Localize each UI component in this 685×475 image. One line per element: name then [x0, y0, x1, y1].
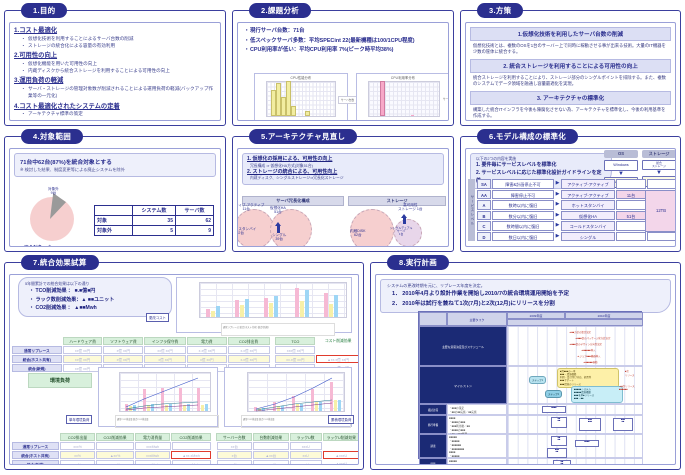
grade: SA — [477, 179, 491, 189]
arrow-right-icon: ▶ — [555, 232, 560, 242]
cell-highlight: ▲xx.xMwh — [171, 451, 210, 459]
col-co2: CO2排出費 — [228, 337, 270, 345]
cell: x億 xx円 — [103, 355, 143, 363]
grade: C — [477, 221, 491, 231]
purpose-item: 1.コスト最適化 仮想化技術を利用することによるサーバ台数の削減 ストレージの統… — [14, 27, 216, 49]
mode: シングル — [561, 232, 615, 242]
cell: x.x億 xx円 — [228, 355, 270, 363]
chart-legend: サーバ台数 — [338, 96, 357, 104]
storage-cell — [647, 179, 676, 189]
mode: アクティブ-アクティブ — [561, 179, 615, 189]
bar — [300, 301, 304, 317]
section-5-architecture-review: 5.アーキテクチャ見直し 1. 仮想化の採用による、可用性の向上 冗長構成 ⇒ … — [232, 136, 454, 252]
col-rack-u: ラックU数 — [290, 433, 322, 441]
cell-highlight: ▲xxxU — [323, 451, 359, 459]
section-2-title: 2.課題分析 — [249, 3, 311, 18]
section-6-model-standardization: 6.モデル構成の標準化 以下の2つの内容を実施 1. 要件毎にサービスレベルを標… — [460, 136, 681, 252]
cell: xxx% — [60, 442, 96, 450]
plot-area — [266, 81, 336, 117]
measure-block: 2. 統合ストレージを利用することによる可用性の向上 統合ストレージを利用するこ… — [470, 59, 671, 88]
mode: アクティブ-アクティブ — [561, 190, 615, 200]
cell: xx億 xx円 — [63, 364, 103, 372]
purpose-bullets: 仮想化機能を用いた可用性の向上 内蔵ディスクから統合ストレージを利用することによ… — [14, 61, 216, 74]
cell: ▲xx% — [96, 451, 133, 459]
tag-cumulative-env: 累積環境負荷 — [328, 415, 354, 424]
legend-item-3: 統合(新規) — [258, 327, 269, 329]
arrow-right-icon: ▶ — [555, 200, 560, 210]
cell-empty — [316, 346, 359, 354]
bar — [324, 293, 328, 317]
cell — [253, 442, 289, 450]
col-server-count: サーバー台数 — [216, 433, 252, 441]
gantt-milestone: ▲■次リリース■■■■■■ — [619, 384, 635, 391]
list-item: 仮想化技術を利用することによるサーバ台数の削減 — [23, 36, 216, 43]
label-environmental-load: 環境負荷 — [28, 373, 92, 388]
arrow-right-icon: ▶ — [555, 179, 560, 189]
chart-env-single-year: 通常CO2排出量 統合CO2排出量 — [98, 367, 218, 427]
col-system-count: システム数 — [132, 206, 175, 216]
pie-label-cold-standby: コールドスタンバイ 22台 — [237, 227, 256, 235]
table-header-row: CO2排出量 CO2削減効果 電力消費量 CO2削減効果 サーバー台数 台数削減… — [12, 433, 359, 441]
purpose-heading: 1.コスト最適化 — [14, 27, 216, 35]
cell: xxxMwh — [135, 451, 171, 459]
section-5-title: 5.アーキテクチャ見直し — [249, 129, 357, 144]
col-power-consumption: 電力消費量 — [135, 433, 171, 441]
arrow-right-icon: ▶ — [555, 211, 560, 221]
cell: xx億 xx円 — [63, 346, 103, 354]
section-4-scope: 4.対象範囲 71台中62台(87%)を統合対象とする ※ 検討した結果、制度変… — [4, 136, 226, 252]
row-label: 統合(ホスト共有) — [12, 451, 59, 459]
chart-title: CPU利用率分布 — [357, 74, 449, 80]
list-item: アーキテクチャ標準の策定 — [23, 111, 216, 118]
table-row: 通常リプレース xxx% xxxMwh xx台 xxxU — [12, 442, 359, 450]
gantt-milestone: ▲ジョブ■■■機器導入 — [577, 354, 600, 358]
gantt-subtasks-build: ■■■■■・■■■■■■ — [447, 458, 507, 465]
bar — [264, 298, 268, 317]
gantt-note-step-1: ■用■■■の一本■■■・環境構築利用・受け付け対応、処置等■■■サポート■■■環… — [557, 368, 619, 388]
count — [616, 179, 646, 189]
section-2-body: 現行サーバ台数：71台 低スペックサーバ多数：平均SPECint 22(最新機種… — [237, 22, 449, 121]
section-8-title: 8.実行計画 — [387, 255, 449, 270]
cell: xxxU — [290, 442, 322, 450]
pie-label-internal-disk: 内蔵DISK 62台 — [350, 229, 366, 237]
arrow-up-icon — [401, 214, 407, 218]
arrow-stem — [277, 226, 280, 233]
bar — [235, 300, 239, 317]
bar — [240, 305, 244, 317]
cell — [172, 442, 211, 450]
measure-text: 統合ストレージを利用することにより、ストレージ部分のシングルポイントを排除する。… — [470, 73, 671, 88]
arch-note-2: 内蔵ディスク、シングルストレージ⇒冗長化ストレージ — [247, 176, 439, 181]
gantt-grid-row-6 — [507, 458, 643, 465]
gantt-row-label-procurement: 調達 — [419, 434, 447, 458]
gantt-bar: ■■■■ — [542, 406, 566, 413]
pie-label-virtual-ha: 仮想化HA 51台 — [270, 206, 286, 214]
bar — [305, 290, 309, 317]
requirement: 障害&計画停止不可 — [492, 179, 554, 189]
table-header-row: システム数 サーバ数 — [95, 206, 214, 216]
section-6-body: 以下の2つの内容を実施 1. 要件毎にサービスレベルを標準化 2. サービスレベ… — [465, 148, 676, 247]
legend-item-2: 統合CO2排出量 — [259, 419, 274, 421]
legend-item-1: 通常CO2排出量 — [243, 419, 258, 421]
pie-group-server: アクティブ-アクティブ 11台 コールドスタンバイ 22台 仮想化HA 51台 … — [240, 205, 344, 247]
gantt-corner — [419, 312, 447, 326]
section-3-title: 3.方策 — [477, 3, 523, 18]
count: 11台 — [616, 190, 646, 200]
gantt-milestone: ▲■■■■■導入 — [581, 348, 595, 352]
mode: ホットスタンバイ — [561, 200, 615, 210]
grade: B — [477, 211, 491, 221]
arch-head-1: 1. 仮想化の採用による、可用性の向上 — [247, 156, 439, 164]
col-rack-u-reduction: ラックU削減効果 — [323, 433, 359, 441]
cell-server-count: 62 — [175, 216, 213, 226]
gantt-milestone: ▲■■■■■稼動 — [583, 360, 597, 364]
gantt-step-2-bubble: ステップ2 — [545, 390, 562, 398]
cell: x台 — [217, 460, 253, 465]
bar — [329, 304, 333, 317]
pie-before-storage — [350, 209, 394, 247]
pie-label-excluded: 対象外 9台 — [48, 187, 59, 195]
chart-legend: 通常CO2排出量 統合CO2排出量 — [115, 415, 219, 428]
bar — [295, 288, 299, 317]
trend-lines — [120, 373, 212, 413]
measure-text: 構築した統合ITインフラを今後も陳腐化させない為、アーキテクチャを標準化し、今後… — [470, 105, 671, 120]
col-blank — [95, 206, 133, 216]
purpose-heading: 2.可用性の向上 — [14, 52, 216, 60]
chart-title: CPU性能分布 — [255, 74, 347, 80]
arrow-stem — [403, 218, 406, 224]
col-header-os: OS — [604, 150, 638, 158]
plot-area — [119, 372, 211, 412]
scope-lead-main: 71台中62台(87%)を統合対象とする — [20, 157, 210, 166]
os-value: Windows — [604, 160, 638, 171]
gantt-milestone: ■次リリース — [625, 369, 634, 377]
divider — [212, 451, 216, 459]
std-lead-item-1: 1. 要件毎にサービスレベルを標準化 — [476, 162, 606, 170]
chart-legend: サーバ台数 — [441, 96, 449, 102]
pie-label-single: シングル 39台 — [272, 233, 286, 241]
count — [616, 232, 646, 242]
table-row: 統合(ホスト共有) xx億 xx円 x億 xx円 x億 xx円 x億 xx円 x… — [12, 355, 359, 363]
gantt-row-label-plan: 検討計画 — [419, 404, 447, 415]
gantt-year-2010: 2010年度 — [565, 312, 643, 319]
corner-blank — [12, 433, 59, 441]
list-item: 低スペックサーバ多数：平均SPECint 22(最新機種は100/1CPU程度) — [244, 37, 444, 47]
col-header-storage: ストレージ — [642, 150, 676, 158]
section-1-body: 1.コスト最適化 仮想化技術を利用することによるサーバ台数の削減 ストレージの統… — [9, 22, 221, 121]
pie-label-active-active: アクティブ-アクティブ 11台 — [237, 203, 264, 211]
col-infra-maint: インフラ保守費 — [144, 337, 186, 345]
table-row: 統合(ホスト共有) xx% ▲xx% xxxMwh ▲xx.xMwh x台 ▲x… — [12, 451, 359, 459]
count — [616, 221, 646, 231]
cell: x台 — [217, 451, 253, 459]
purpose-bullets: サーバ・ストレージの管理対象数が削減されることによる運用負荷の軽減(バックアップ… — [14, 86, 216, 99]
section-8-execution-plan: 8.実行計画 システムの更改時期を元に、リプレース年度を決定。 1． 2010年… — [370, 262, 681, 470]
plot-area — [368, 81, 440, 117]
grade: A — [477, 200, 491, 210]
table-header-row: ハードウェア費 ソフトウェア費 インフラ保守費 電力費 CO2排出費 TCO コ… — [12, 337, 359, 345]
pie-label-single-dual: シングルデュアル サーバ 1台 — [390, 227, 412, 237]
cell: xxU — [290, 460, 322, 465]
col-power: 電力費 — [187, 337, 227, 345]
col-co2-reduction: CO2削減効果 — [96, 433, 133, 441]
row-label: 対象外 — [95, 226, 133, 236]
divider — [271, 355, 275, 363]
bar — [211, 311, 215, 317]
gantt-bar: ■■■■■ — [547, 448, 567, 458]
cell: ▲xx台 — [253, 460, 289, 465]
grade: D — [477, 232, 491, 242]
measure-heading: 1.仮想化技術を利用したサーバ台数の削減 — [470, 27, 671, 41]
bar — [206, 309, 210, 317]
section-5-body: 1. 仮想化の採用による、可用性の向上 冗長構成 ⇒ 仮想化HA方式(対象51台… — [237, 148, 449, 247]
effect-lead-item-3: ・ CO2削減効果 ： ▲■■Mwh — [25, 304, 165, 313]
measure-heading: 3. アーキテクチャの標準化 — [470, 91, 671, 105]
requirement: 数日以内に復旧 — [492, 232, 554, 242]
arch-lead: 1. 仮想化の採用による、可用性の向上 冗長構成 ⇒ 仮想化HA方式(対象51台… — [242, 153, 444, 185]
cell-server-count: 9 — [175, 226, 213, 236]
cell: xx% — [60, 460, 96, 465]
plot-area — [247, 372, 345, 412]
purpose-item: 2.可用性の向上 仮想化機能を用いた可用性の向上 内蔵ディスクから統合ストレージ… — [14, 52, 216, 74]
mode: 仮想化HA — [561, 211, 615, 221]
bar — [216, 306, 220, 317]
divider — [212, 442, 216, 450]
arrow-up-icon — [275, 222, 281, 226]
cell: ▲xx% — [96, 460, 133, 465]
cell-system-count: 35 — [132, 216, 175, 226]
bar — [334, 295, 338, 317]
pie-label-high-availability: 高可用性 ストレージ 1台 — [398, 203, 423, 211]
bar — [380, 81, 385, 116]
bar — [245, 299, 249, 317]
storage-cell — [647, 232, 676, 242]
table-row: SA 障害&計画停止不可 ▶ アクティブ-アクティブ — [477, 179, 676, 189]
list-item: サーバ・ストレージの管理対象数が削減されることによる運用負荷の軽減(バックアップ… — [23, 86, 216, 99]
requirement: 数時間以内に復旧 — [492, 221, 554, 231]
measure-heading: 2. 統合ストレージを利用することによる可用性の向上 — [470, 59, 671, 73]
gantt-milestone: ▲■■方針の策定決定 — [569, 330, 591, 334]
gantt-subtasks-plan: ・■■■の策定・■■の■■実施／■■実施 — [447, 404, 507, 415]
row-label: 統合(新規) — [12, 364, 62, 372]
arrow-right-icon: ▶ — [555, 221, 560, 231]
cell: xxx億 xx円 — [275, 346, 315, 354]
divider — [271, 346, 275, 354]
gantt-year-2009: 2009年度 — [507, 312, 565, 319]
cell: xx億 xx円 — [63, 355, 103, 363]
col-tco: TCO — [275, 337, 315, 345]
cell — [96, 442, 133, 450]
cell: xx台 — [217, 442, 253, 450]
cell: xxxMwh — [135, 460, 171, 465]
chart-cpu-utilization-distribution: CPU利用率分布 サーバ台数 — [356, 73, 449, 121]
table-row: 対象 35 62 — [95, 216, 214, 226]
list-item: 現行サーバ台数：71台 — [244, 27, 444, 37]
col-server-count: サーバ数 — [175, 206, 213, 216]
plan-lead-item-1: 1． 2010年4月より設計作業を開始し2010/7の統合環境運用開始を予定 — [387, 289, 664, 299]
cell: ▲xx台 — [253, 451, 289, 459]
gantt-month-header — [507, 319, 643, 326]
gantt-bar: ■■■■ — [551, 417, 567, 428]
tag-replacement-cost: 更改コスト — [146, 313, 169, 322]
cell-system-count: 5 — [132, 226, 175, 236]
plan-lead: システムの更改時期を元に、リプレース年度を決定。 1． 2010年4月より設計作… — [380, 279, 671, 313]
legend-item-2: 統合CO2排出量 — [133, 419, 148, 421]
col-count-reduction: 台数削減効果 — [253, 433, 289, 441]
cell: x.x億 xx円 — [187, 346, 227, 354]
corner-blank — [12, 337, 62, 345]
section-1-purpose: 1.目的 1.コスト最適化 仮想化技術を利用することによるサーバ台数の削減 スト… — [4, 10, 226, 126]
cell: xx% — [60, 451, 96, 459]
cell: ▲xxxU — [323, 460, 359, 465]
bar — [411, 115, 414, 117]
bar — [291, 106, 296, 116]
legend-item-1: 通常リプレース — [223, 327, 239, 329]
gantt-bar: ■■■■ — [551, 436, 567, 446]
cell: xx億 xx円 — [144, 346, 186, 354]
cell: xxxMwh — [135, 442, 171, 450]
bar — [305, 111, 310, 116]
section-6-title: 6.モデル構成の標準化 — [477, 129, 578, 144]
tag-single-year-env: 単年環境負荷 — [66, 415, 92, 424]
pie-label-target: 統合対象62台 — [24, 245, 52, 247]
col-cost-reduction: コスト削減効果 — [316, 337, 359, 345]
service-level-side-label: サービスレベル — [468, 179, 475, 241]
effect-lead-item-1: ・ TCO削減効果 ： ■.■億■円 — [25, 287, 165, 296]
count: 51台 — [616, 211, 646, 221]
purpose-heading: 3.運用負荷の軽減 — [14, 77, 216, 85]
plan-lead-item-2: 2． 2010年は試行を兼ねて1次(7月)と2次(12月)にリリースを分割 — [387, 299, 664, 309]
plot-area — [199, 282, 347, 318]
scope-table: システム数 サーバ数 対象 35 62 対象外 5 9 — [94, 205, 214, 236]
purpose-item: 4.コスト最適化されたシステムの定着 アーキテクチャ標準の策定 — [14, 103, 216, 119]
storage-value: 統合 ストレージ — [642, 160, 676, 170]
section-8-body: システムの更改時期を元に、リプレース年度を決定。 1． 2010年4月より設計作… — [375, 274, 676, 465]
divider — [271, 337, 275, 345]
gantt-step-1-bubble: ステップ1 — [529, 376, 546, 384]
cell-highlight: ▲xx.x億 xx円 — [316, 355, 359, 363]
cell: x億 xx円 — [187, 355, 227, 363]
grade: AA — [477, 190, 491, 200]
effect-table-environment: CO2排出量 CO2削減効果 電力消費量 CO2削減効果 サーバー台数 台数削減… — [12, 433, 359, 465]
cell: xxU — [290, 451, 322, 459]
gantt-subtasks-prep: ■■■■・■■■■の■■■・■■■利用後／■■・■■■■の■■■・■■・■■■整… — [447, 415, 507, 434]
chart-replacement-cost: 通常リプレース 統合(ホスト共有) 統合(新規) — [176, 277, 352, 333]
mode: コールドスタンバイ — [561, 221, 615, 231]
measure-text: 仮想化技術とは、複数のOSを1台のサーバー上で同時に稼動させる事が出来る技術。大… — [470, 41, 671, 56]
row-label: 統合(ホスト共有) — [12, 355, 62, 363]
cell — [323, 442, 359, 450]
gantt-row-label-decisions: 主要な意思決定及びスケジュール — [419, 326, 507, 366]
purpose-item: 3.運用負荷の軽減 サーバ・ストレージの管理対象数が削減されることによる運用負荷… — [14, 77, 216, 99]
list-item: ストレージの統合化による容量の有効利用 — [23, 43, 216, 50]
gantt-bar: ■■■■■ — [613, 418, 633, 431]
cell: x億 xx円 — [144, 355, 186, 363]
section-4-title: 4.対象範囲 — [21, 129, 83, 144]
purpose-bullets: 仮想化技術を利用することによるサーバ台数の削減 ストレージの統合化による容量の有… — [14, 36, 216, 49]
gantt-note-step-2: ■■■■■システム■■■■■環境構築■■■を本■リリース■■■・■■ — [571, 386, 623, 403]
chart-legend: 通常リプレース 統合(ホスト共有) 統合(新規) — [221, 323, 335, 336]
requirement: 障害停止不可 — [492, 190, 554, 200]
row-label: 通常リプレース — [12, 346, 62, 354]
purpose-heading: 4.コスト最適化されたシステムの定着 — [14, 103, 216, 111]
section-7-title: 7.統合効果試算 — [21, 255, 99, 270]
legend-item-1: 通常CO2排出量 — [117, 419, 132, 421]
gantt-bar: ■■■■ — [553, 460, 571, 465]
purpose-bullets: アーキテクチャ標準の策定 — [14, 111, 216, 118]
row-label: 通常リプレース — [12, 442, 59, 450]
gantt-milestone: ▲■■■案のパッケージ化方針決定 — [575, 336, 610, 340]
trend-lines — [248, 373, 346, 413]
legend-item-2: 統合(ホスト共有) — [240, 327, 258, 329]
gantt-row-label-milestone: マイルストン — [419, 366, 507, 404]
gantt-bar: ■■■■ — [575, 440, 599, 447]
measure-block: 1.仮想化技術を利用したサーバ台数の削減 仮想化技術とは、複数のOSを1台のサー… — [470, 27, 671, 56]
col-hardware: ハードウェア費 — [63, 337, 103, 345]
gantt-chart: 主要タスク 2009年度 2010年度 主要な意思決定及びスケジュール ▲■■方… — [418, 311, 642, 459]
section-4-body: 71台中62台(87%)を統合対象とする ※ 検討した結果、制度変更等による廃止… — [9, 148, 221, 247]
list-item: 内蔵ディスクから統合ストレージを利用することによる可用性の向上 — [23, 68, 216, 75]
scope-pie-chart: 対象外 9台 — [24, 191, 94, 243]
list-item: CPU利用率が低い：平均CPU利用率 7%(ピーク時平均38%) — [244, 46, 444, 56]
gantt-row-label-prep: 移行準備 — [419, 415, 447, 434]
section-3-body: 1.仮想化技術を利用したサーバ台数の削減 仮想化技術とは、複数のOSを1台のサー… — [465, 22, 676, 121]
bar — [274, 296, 278, 317]
gantt-row-label-build: 構築 — [419, 458, 447, 465]
divider — [212, 460, 216, 465]
requirement: 数分以内に復旧 — [492, 211, 554, 221]
cell: xx.x億 xx円 — [275, 355, 315, 363]
table-row: 統合(新規) xx% ▲xx% xxxMwh ▲xxxMwh x台 ▲xx台 x… — [12, 460, 359, 465]
table-row: 通常リプレース xx億 xx円 x億 xx円 xx億 xx円 x.x億 xx円 … — [12, 346, 359, 354]
cell: x億 xx円 — [103, 346, 143, 354]
arrow-right-icon: ▶ — [555, 190, 560, 200]
section-3-measures: 3.方策 1.仮想化技術を利用したサーバ台数の削減 仮想化技術とは、複数のOSを… — [460, 10, 681, 126]
pie-group-storage: 内蔵DISK 62台 シングルデュアル サーバ 1台 高可用性 ストレージ 1台 — [346, 205, 446, 247]
gantt-milestone: ▲■■■案のデザイン方向性決定 — [569, 342, 602, 346]
col-co2-emission: CO2排出量 — [60, 433, 96, 441]
section-7-effect-estimate: 7.統合効果試算 5年間累計での統合効果は以下の通り ・ TCO削減効果 ： ■… — [4, 262, 364, 470]
scope-lead: 71台中62台(87%)を統合対象とする ※ 検討した結果、制度変更等による廃止… — [14, 153, 216, 177]
row-label: 対象 — [95, 216, 133, 226]
bar — [269, 303, 273, 317]
effect-lead: 5年間累計での統合効果は以下の通り ・ TCO削減効果 ： ■.■億■円 ・ ラ… — [18, 277, 172, 317]
divider — [212, 433, 216, 441]
cell: x.x億 xx円 — [228, 346, 270, 354]
storage-total-capacity: 12TB — [645, 190, 676, 232]
section-7-body: 5年間累計での統合効果は以下の通り ・ TCO削減効果 ： ■.■億■円 ・ ラ… — [9, 274, 359, 465]
gantt-task-header: 主要タスク — [447, 312, 507, 326]
gantt-grid-row-3 — [507, 404, 643, 415]
slide-canvas: 1.目的 1.コスト最適化 仮想化技術を利用することによるサーバ台数の削減 スト… — [0, 0, 685, 475]
gantt-subtasks-procurement: ■■■■■・■■■■■・■■■■■■・■■■■■■■■■■■■・■■■■■・■■… — [447, 434, 507, 458]
section-2-issue-analysis: 2.課題分析 現行サーバ台数：71台 低スペックサーバ多数：平均SPECint … — [232, 10, 454, 126]
count — [616, 200, 646, 210]
issue-bullets: 現行サーバ台数：71台 低スペックサーバ多数：平均SPECint 22(最新機種… — [242, 27, 444, 56]
chart-cpu-spec-distribution: CPU性能分布 サーバ台数 — [254, 73, 348, 121]
section-1-title: 1.目的 — [21, 3, 67, 18]
col-co2-reduction-2: CO2削減効果 — [171, 433, 210, 441]
scope-lead-sub: ※ 検討した結果、制度変更等による廃止システムを除外 — [20, 167, 210, 173]
col-software: ソフトウェア費 — [103, 337, 143, 345]
row-label: 統合(新規) — [12, 460, 59, 465]
table-row: 対象外 5 9 — [95, 226, 214, 236]
effect-lead-item-2: ・ ラック数削減効果：▲ ■■ユニット — [25, 296, 165, 305]
gantt-bar: ■■■■■■ — [579, 418, 601, 431]
requirement: 数時以内に復旧 — [492, 200, 554, 210]
list-item: 仮想化機能を用いた可用性の向上 — [23, 61, 216, 68]
table-row: D 数日以内に復旧 ▶ シングル — [477, 232, 676, 242]
